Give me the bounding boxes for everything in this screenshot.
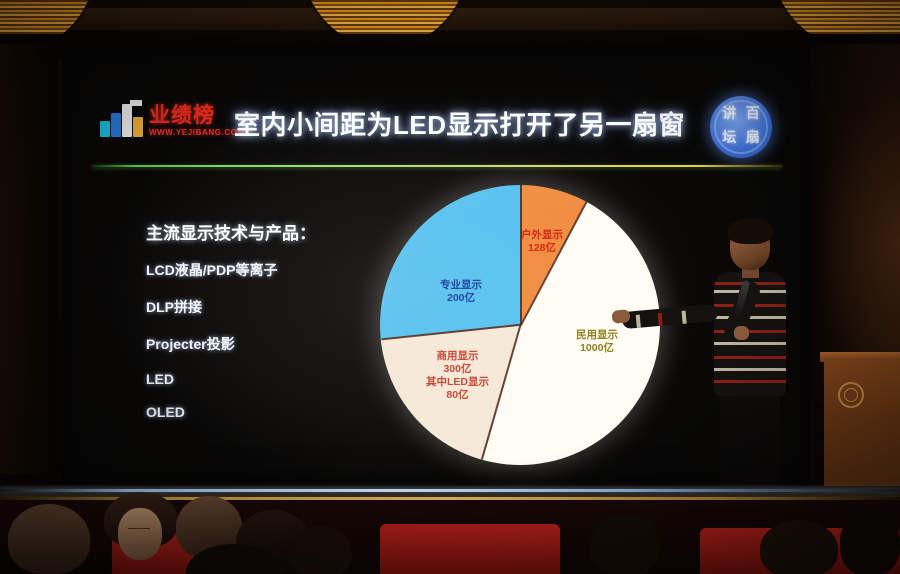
title-divider — [92, 165, 782, 167]
bar-chart-icon — [100, 103, 144, 137]
presenter — [686, 222, 810, 522]
left-wall — [0, 44, 58, 474]
list-item: LCD液晶/PDP等离子 — [146, 260, 386, 280]
presenter-mic-hand — [734, 326, 749, 340]
audience-face — [118, 508, 162, 560]
right-wall-glow — [805, 44, 900, 404]
list-item: OLED — [146, 404, 386, 420]
audience-head — [290, 526, 352, 574]
audience-head — [8, 504, 90, 574]
audience-head — [840, 508, 900, 574]
list-item: LED — [146, 371, 386, 387]
pie-label-commercial: 商用显示 300亿 其中LED显示 80亿 — [426, 350, 489, 403]
pie-label-outdoor: 户外显示 128亿 — [521, 229, 563, 255]
audience-head — [590, 514, 660, 574]
list-heading: 主流显示技术与产品： — [146, 219, 386, 244]
yejibang-logo: 业绩榜 WWW.YEJIBANG.COM — [100, 103, 245, 137]
list-item: DLP拼接 — [146, 297, 386, 317]
venue-photo: 业绩榜 WWW.YEJIBANG.COM 室内小间距为LED显示打开了另一扇窗 … — [0, 0, 900, 574]
logo-name: 业绩榜 — [149, 105, 245, 126]
presenter-hair — [727, 218, 773, 244]
logo-url: WWW.YEJIBANG.COM — [149, 129, 245, 137]
technology-list: 主流显示技术与产品： LCD液晶/PDP等离子 DLP拼接 Projecter投… — [146, 219, 386, 437]
pie-label-professional: 专业显示 200亿 — [440, 279, 482, 305]
pie-label-consumer: 民用显示 1000亿 — [576, 329, 618, 355]
audience-area — [0, 500, 900, 574]
audience-head — [760, 520, 838, 574]
list-item: Projecter投影 — [146, 334, 386, 354]
pie-chart: 户外显示 128亿 专业显示 200亿 商用显示 300亿 其中LED显示 80… — [380, 185, 660, 465]
podium-emblem-icon — [838, 382, 864, 408]
slide-title: 室内小间距为LED显示打开了另一扇窗 — [234, 105, 684, 142]
glasses-icon — [128, 528, 150, 534]
forum-seal-icon: 讲 百 坛 扇 — [710, 96, 772, 158]
